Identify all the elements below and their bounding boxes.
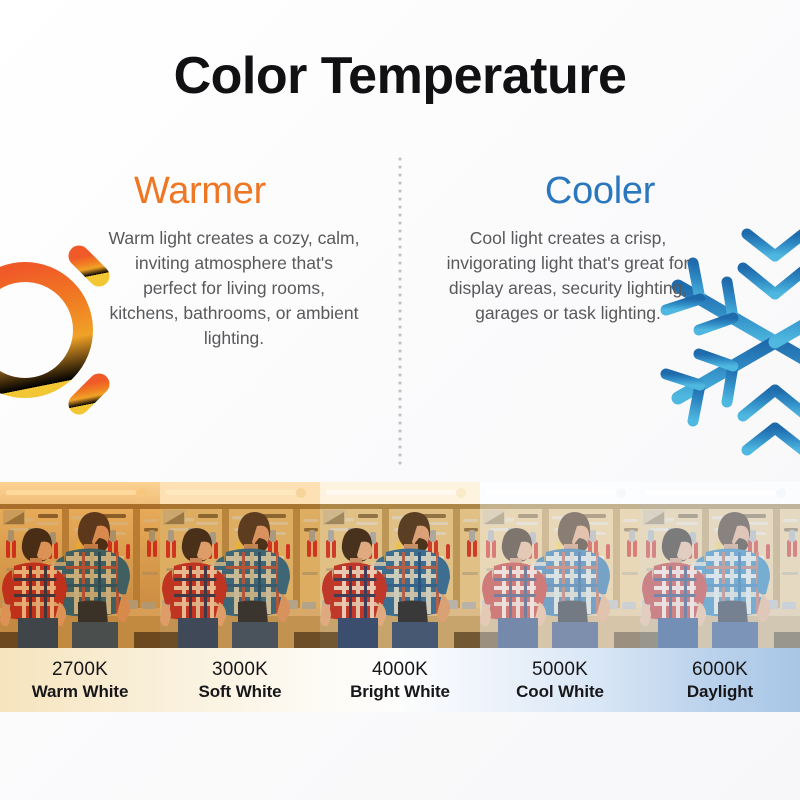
kelvin-name: Daylight (687, 681, 753, 703)
photo-panel (640, 482, 800, 648)
color-temperature-infographic: Color Temperature (0, 0, 800, 800)
photo-panel (160, 482, 320, 648)
kelvin-value: 2700K (52, 658, 108, 681)
kelvin-scale-labels: 2700K Warm White 3000K Soft White 4000K … (0, 648, 800, 712)
kelvin-name: Warm White (32, 681, 129, 703)
kelvin-label-4000k: 4000K Bright White (320, 648, 480, 712)
warmer-description: Warm light creates a cozy, calm, invitin… (108, 226, 360, 351)
warmer-column: Warmer Warm light creates a cozy, calm, … (0, 170, 400, 470)
kelvin-value: 4000K (372, 658, 428, 681)
kelvin-value: 5000K (532, 658, 588, 681)
photo-panel (480, 482, 640, 648)
warmer-heading: Warmer (0, 170, 400, 213)
cooler-heading: Cooler (400, 170, 800, 213)
photo-strip (0, 482, 800, 648)
kelvin-label-3000k: 3000K Soft White (160, 648, 320, 712)
kelvin-label-5000k: 5000K Cool White (480, 648, 640, 712)
photo-panel (0, 482, 160, 648)
comparison-columns: Warmer Warm light creates a cozy, calm, … (0, 170, 800, 470)
kelvin-value: 3000K (212, 658, 268, 681)
page-title: Color Temperature (0, 46, 800, 106)
photo-panel (320, 482, 480, 648)
cooler-description: Cool light creates a crisp, invigorating… (442, 226, 694, 326)
kelvin-value: 6000K (692, 658, 748, 681)
kelvin-label-2700k: 2700K Warm White (0, 648, 160, 712)
kelvin-name: Bright White (350, 681, 450, 703)
kelvin-name: Cool White (516, 681, 604, 703)
kelvin-name: Soft White (198, 681, 281, 703)
kelvin-label-6000k: 6000K Daylight (640, 648, 800, 712)
cooler-column: Cooler Cool light creates a crisp, invig… (400, 170, 800, 470)
